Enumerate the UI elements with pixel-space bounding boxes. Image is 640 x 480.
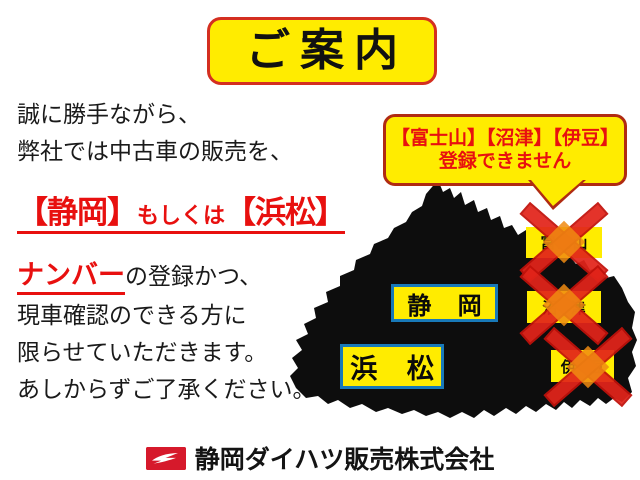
emphasis-city-shizuoka: 【静岡】 (17, 195, 137, 231)
footer: 静岡ダイハツ販売株式会社 (0, 436, 640, 480)
warning-speech-bubble: 【富士山】【沼津】【伊豆】 登録できません (383, 114, 627, 186)
map-label-shizuoka: 静 岡 (391, 284, 498, 322)
daihatsu-logo-icon (146, 447, 186, 470)
bubble-line-1: 【富士山】【沼津】【伊豆】 (391, 127, 619, 150)
map-label-izu: 伊 豆 (551, 350, 614, 382)
daihatsu-logo-glyph (146, 447, 186, 470)
announcement-poster: ご案内 誠に勝手ながら、 弊社では中古車の販売を、 【静岡】もしくは【浜松】 ナ… (0, 0, 640, 480)
bubble-text: 【富士山】【沼津】【伊豆】 登録できません (383, 114, 627, 186)
bubble-line-2: 登録できません (439, 150, 571, 173)
page-title: ご案内 (236, 29, 408, 73)
company-name: 静岡ダイハツ販売株式会社 (195, 440, 495, 476)
copy-line-2: 弊社では中古車の販売を、 (17, 141, 337, 164)
copy-line-1: 誠に勝手ながら、 (17, 104, 337, 127)
copy-number-rest: の登録かつ、 (125, 264, 262, 290)
title-banner: ご案内 (207, 17, 437, 85)
emphasis-number-plate: ナンバー (17, 260, 125, 295)
map-label-numazu: 沼 津 (527, 291, 601, 323)
map-label-fujisan: 富士山 (526, 227, 602, 258)
emphasis-connector: もしくは (137, 204, 225, 229)
map-label-hamamatsu: 浜 松 (340, 344, 444, 389)
